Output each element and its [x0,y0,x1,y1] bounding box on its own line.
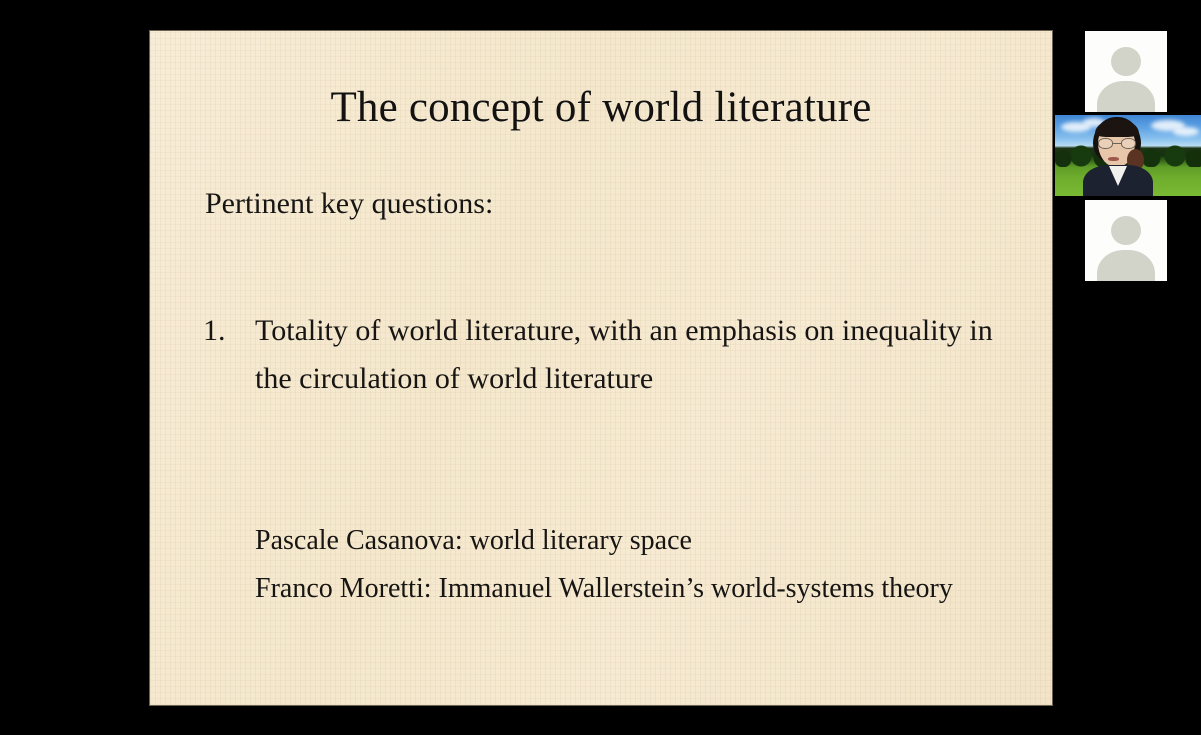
glasses-icon [1098,138,1136,149]
participant-tile-3[interactable] [1085,200,1167,281]
slide-content: The concept of world literature Pertinen… [150,31,1052,705]
participant-tile-1[interactable] [1085,31,1167,112]
participant-video-strip [1055,0,1201,735]
meeting-screen-share-view: The concept of world literature Pertinen… [0,0,1201,735]
shared-slide: The concept of world literature Pertinen… [150,31,1052,705]
default-avatar-icon [1085,31,1167,112]
slide-numbered-list: 1. Totality of world literature, with an… [203,307,1003,403]
reference-line: Franco Moretti: Immanuel Wallerstein’s w… [203,565,1033,613]
default-avatar-icon [1085,200,1167,281]
participant-webcam-person [1087,117,1149,196]
slide-title: The concept of world literature [150,85,1052,131]
reference-line: Pascale Casanova: world literary space [203,517,1033,565]
participant-tile-2[interactable] [1055,115,1201,196]
list-item: 1. Totality of world literature, with an… [203,307,1003,403]
list-item-text: Totality of world literature, with an em… [255,314,993,395]
list-item-marker: 1. [203,307,226,355]
slide-lead-text: Pertinent key questions: [205,187,493,220]
slide-reference-block: Pascale Casanova: world literary space F… [203,517,1033,613]
